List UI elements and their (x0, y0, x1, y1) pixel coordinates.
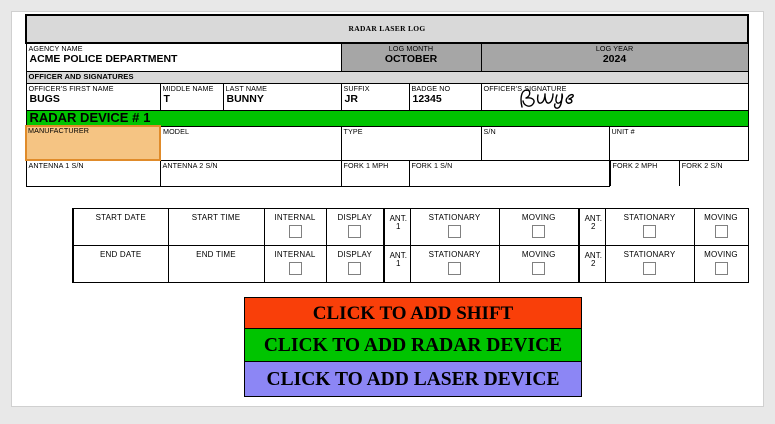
shift-row-start: START DATE START TIME INTERNAL DISPLAY A… (73, 209, 748, 246)
officer-suffix-field[interactable]: SUFFIX JR (341, 84, 409, 111)
officer-first-name-label: OFFICER'S FIRST NAME (27, 84, 160, 93)
fork1-mph-field[interactable]: FORK 1 MPH (341, 160, 409, 187)
end-ant2-line1: ANT. (580, 246, 605, 260)
start-ant1-moving-label: MOVING (500, 209, 579, 222)
agency-name-label: AGENCY NAME (27, 44, 341, 53)
officer-middle-name-label: MIDDLE NAME (161, 84, 223, 93)
end-date-label: END DATE (74, 246, 168, 259)
agency-name-field[interactable]: AGENCY NAME ACME POLICE DEPARTMENT (26, 43, 341, 72)
start-internal-label: INTERNAL (265, 209, 326, 222)
serial-number-value (482, 135, 609, 138)
end-ant2-moving-checkbox[interactable] (715, 262, 728, 275)
radar-device-bar-row: RADAR DEVICE # 1 (26, 111, 748, 127)
end-ant1-moving-cell[interactable]: MOVING (499, 246, 579, 283)
add-shift-button[interactable]: CLICK TO ADD SHIFT (244, 297, 582, 329)
start-ant1-moving-cell[interactable]: MOVING (499, 209, 579, 246)
end-ant1-moving-label: MOVING (500, 246, 579, 259)
start-date-field[interactable]: START DATE (73, 209, 168, 246)
end-internal-checkbox[interactable] (289, 262, 302, 275)
officer-badge-no-label: BADGE NO (410, 84, 481, 93)
start-ant1-line2: 1 (385, 223, 410, 231)
start-ant1-moving-checkbox[interactable] (532, 225, 545, 238)
fork1-mph-label: FORK 1 MPH (342, 161, 409, 170)
end-ant2-stationary-label: STATIONARY (606, 246, 694, 259)
log-year-label: LOG YEAR (482, 44, 748, 53)
fork2-mph-value (611, 169, 679, 172)
log-month-label: LOG MONTH (342, 44, 481, 53)
end-ant1-line2: 1 (385, 260, 410, 268)
type-label: TYPE (342, 127, 481, 136)
officer-signature-field[interactable]: OFFICER'S SIGNATURE (481, 84, 748, 111)
radar-device-bar: RADAR DEVICE # 1 (26, 111, 748, 127)
start-ant2-moving-checkbox[interactable] (715, 225, 728, 238)
start-time-label: START TIME (169, 209, 264, 222)
shift-table: START DATE START TIME INTERNAL DISPLAY A… (72, 208, 749, 283)
radar-laser-log-form: RADAR LASER LOG AGENCY NAME ACME POLICE … (25, 14, 749, 187)
antenna1-sn-label: ANTENNA 1 S/N (27, 161, 160, 170)
start-ant1-stationary-label: STATIONARY (411, 209, 499, 222)
antenna1-sn-field[interactable]: ANTENNA 1 S/N (26, 160, 160, 187)
officer-last-name-value: BUNNY (224, 93, 341, 108)
unit-number-field[interactable]: UNIT # (609, 126, 748, 160)
form-page: RADAR LASER LOG AGENCY NAME ACME POLICE … (11, 11, 764, 407)
start-ant2-stationary-cell[interactable]: STATIONARY (605, 209, 694, 246)
fork2-fields-group: FORK 2 MPH FORK 2 S/N (609, 160, 748, 187)
officer-badge-no-field[interactable]: BADGE NO 12345 (409, 84, 481, 111)
start-time-field[interactable]: START TIME (168, 209, 264, 246)
start-ant2-moving-cell[interactable]: MOVING (694, 209, 748, 246)
start-internal-cell[interactable]: INTERNAL (264, 209, 326, 246)
end-ant1-stationary-cell[interactable]: STATIONARY (410, 246, 499, 283)
shift-row-end: END DATE END TIME INTERNAL DISPLAY ANT. … (73, 246, 748, 283)
fork1-sn-field[interactable]: FORK 1 S/N (409, 160, 609, 187)
end-ant1-stationary-label: STATIONARY (411, 246, 499, 259)
start-ant2-stationary-label: STATIONARY (606, 209, 694, 222)
officer-section-banner-row: OFFICER AND SIGNATURES (26, 72, 748, 84)
end-time-field[interactable]: END TIME (168, 246, 264, 283)
officer-middle-name-value: T (161, 93, 223, 108)
serial-number-label: S/N (482, 127, 609, 136)
end-display-cell[interactable]: DISPLAY (326, 246, 384, 283)
manufacturer-field[interactable]: MANUFACTURER (26, 126, 160, 160)
start-display-checkbox[interactable] (348, 225, 361, 238)
end-ant2-line2: 2 (580, 260, 605, 268)
radar-device-bar-label: RADAR DEVICE # (30, 111, 140, 125)
fork2-mph-label: FORK 2 MPH (611, 161, 679, 170)
radar-device-row-1: MANUFACTURER MODEL TYPE S/N UNIT # (26, 126, 748, 160)
fork2-sn-field[interactable]: FORK 2 S/N (679, 161, 748, 186)
model-field[interactable]: MODEL (160, 126, 341, 160)
fork1-mph-value (342, 169, 409, 172)
officer-first-name-field[interactable]: OFFICER'S FIRST NAME BUGS (26, 84, 160, 111)
end-display-label: DISPLAY (327, 246, 384, 259)
start-ant1-stationary-checkbox[interactable] (448, 225, 461, 238)
start-internal-checkbox[interactable] (289, 225, 302, 238)
fork2-sn-label: FORK 2 S/N (680, 161, 748, 170)
start-ant2-moving-label: MOVING (695, 209, 748, 222)
end-ant2-moving-label: MOVING (695, 246, 748, 259)
end-ant2-marker: ANT. 2 (579, 246, 605, 283)
end-ant1-marker: ANT. 1 (384, 246, 410, 283)
manufacturer-label: MANUFACTURER (27, 127, 159, 135)
end-ant2-stationary-cell[interactable]: STATIONARY (605, 246, 694, 283)
officer-suffix-value: JR (342, 93, 409, 108)
end-ant1-line1: ANT. (385, 246, 410, 260)
type-field[interactable]: TYPE (341, 126, 481, 160)
fork2-mph-field[interactable]: FORK 2 MPH (610, 161, 679, 186)
start-ant1-marker: ANT. 1 (384, 209, 410, 246)
title-row: RADAR LASER LOG (26, 15, 748, 43)
add-laser-device-button[interactable]: CLICK TO ADD LASER DEVICE (244, 362, 582, 397)
antenna2-sn-field[interactable]: ANTENNA 2 S/N (160, 160, 341, 187)
end-internal-cell[interactable]: INTERNAL (264, 246, 326, 283)
log-year-value: 2024 (482, 53, 748, 68)
end-display-checkbox[interactable] (348, 262, 361, 275)
log-month-field[interactable]: LOG MONTH OCTOBER (341, 43, 481, 72)
end-ant2-stationary-checkbox[interactable] (643, 262, 656, 275)
end-date-field[interactable]: END DATE (73, 246, 168, 283)
start-display-label: DISPLAY (327, 209, 384, 222)
manufacturer-value (27, 135, 159, 138)
add-radar-device-button[interactable]: CLICK TO ADD RADAR DEVICE (244, 329, 582, 362)
page-title: RADAR LASER LOG (26, 15, 748, 43)
end-ant1-stationary-checkbox[interactable] (448, 262, 461, 275)
type-value (342, 135, 481, 138)
start-ant2-stationary-checkbox[interactable] (643, 225, 656, 238)
start-ant2-marker: ANT. 2 (579, 209, 605, 246)
officer-last-name-field[interactable]: LAST NAME BUNNY (223, 84, 341, 111)
fork2-sn-value (680, 169, 748, 172)
signature-icon (514, 87, 614, 109)
start-ant2-line1: ANT. (580, 209, 605, 223)
start-ant1-stationary-cell[interactable]: STATIONARY (410, 209, 499, 246)
log-year-field[interactable]: LOG YEAR 2024 (481, 43, 748, 72)
antenna2-sn-value (161, 169, 341, 172)
officer-suffix-label: SUFFIX (342, 84, 409, 93)
unit-number-value (610, 135, 748, 138)
end-internal-label: INTERNAL (265, 246, 326, 259)
antenna2-sn-label: ANTENNA 2 S/N (161, 161, 341, 170)
officer-row: OFFICER'S FIRST NAME BUGS MIDDLE NAME T … (26, 84, 748, 111)
model-label: MODEL (161, 127, 341, 136)
agency-row: AGENCY NAME ACME POLICE DEPARTMENT LOG M… (26, 43, 748, 72)
end-ant1-moving-checkbox[interactable] (532, 262, 545, 275)
log-month-value: OCTOBER (342, 53, 481, 68)
start-display-cell[interactable]: DISPLAY (326, 209, 384, 246)
fork1-sn-label: FORK 1 S/N (410, 161, 609, 170)
radar-device-row-2: ANTENNA 1 S/N ANTENNA 2 S/N FORK 1 MPH F… (26, 160, 748, 187)
officer-middle-name-field[interactable]: MIDDLE NAME T (160, 84, 223, 111)
end-ant2-moving-cell[interactable]: MOVING (694, 246, 748, 283)
officer-section-label: OFFICER AND SIGNATURES (27, 72, 748, 81)
start-ant2-line2: 2 (580, 223, 605, 231)
officer-last-name-label: LAST NAME (224, 84, 341, 93)
model-value (161, 135, 341, 138)
agency-name-value: ACME POLICE DEPARTMENT (27, 53, 341, 68)
antenna1-sn-value (27, 170, 160, 173)
unit-number-label: UNIT # (610, 127, 748, 136)
officer-first-name-value: BUGS (27, 93, 160, 108)
start-date-label: START DATE (74, 209, 168, 222)
end-time-label: END TIME (169, 246, 264, 259)
radar-device-number: 1 (143, 111, 150, 125)
start-ant1-line1: ANT. (385, 209, 410, 223)
officer-badge-no-value: 12345 (410, 93, 481, 108)
action-button-stack: CLICK TO ADD SHIFT CLICK TO ADD RADAR DE… (244, 297, 582, 397)
fork1-sn-value (410, 169, 609, 172)
serial-number-field[interactable]: S/N (481, 126, 609, 160)
officer-section-banner: OFFICER AND SIGNATURES (26, 72, 748, 84)
